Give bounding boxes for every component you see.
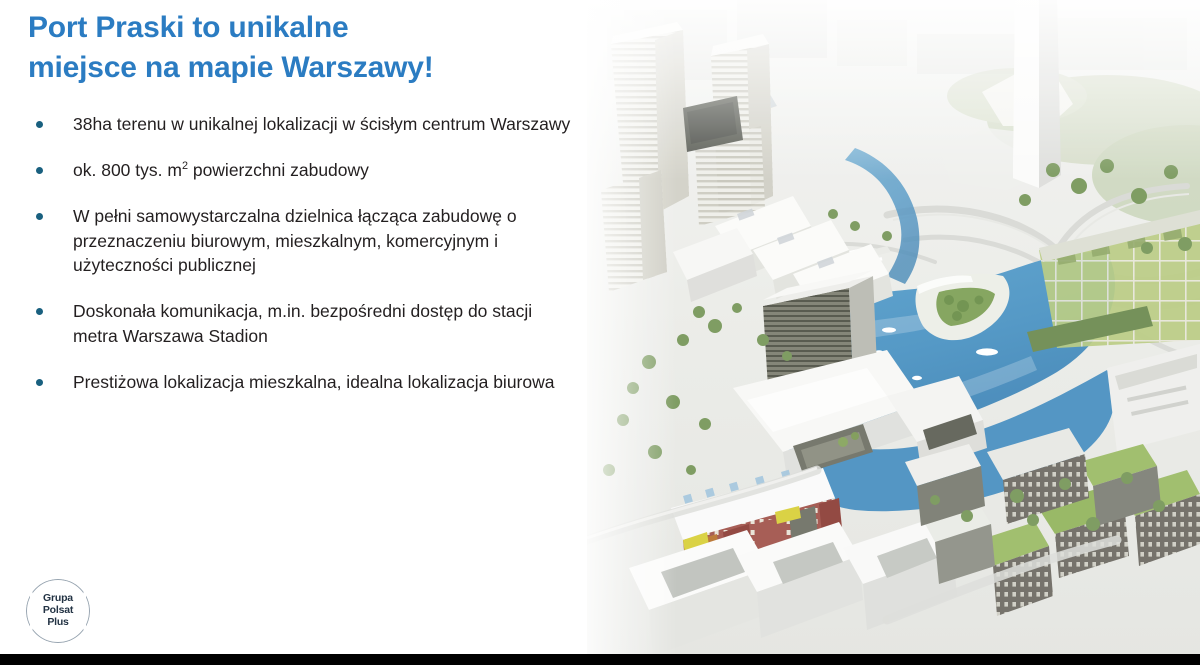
- logo-text: Grupa Polsat Plus: [26, 579, 90, 643]
- list-item: Doskonała komunikacja, m.in. bezpośredni…: [28, 299, 573, 349]
- bullet-dot-icon: [36, 213, 43, 220]
- page-title-line-2: miejsce na mapie Warszawy!: [28, 48, 568, 88]
- list-item: 38ha terenu w unikalnej lokalizacji w śc…: [28, 112, 573, 137]
- feature-bullet-list: 38ha terenu w unikalnej lokalizacji w śc…: [28, 112, 573, 395]
- presentation-slide: Port Praski to unikalne miejsce na mapie…: [0, 0, 1200, 665]
- bullet-dot-icon: [36, 308, 43, 315]
- list-item: W pełni samowystarczalna dzielnica łączą…: [28, 204, 573, 279]
- list-item: Prestiżowa lokalizacja mieszkalna, ideal…: [28, 370, 573, 395]
- bottom-black-bar: [0, 654, 1200, 665]
- aerial-render-svg: [587, 0, 1200, 665]
- aerial-render: [587, 0, 1200, 665]
- bullet-dot-icon: [36, 167, 43, 174]
- bullet-dot-icon: [36, 121, 43, 128]
- list-item: ok. 800 tys. m2 powierzchni zabudowy: [28, 158, 573, 183]
- project-visualisation-image: [587, 0, 1200, 665]
- bullet-dot-icon: [36, 379, 43, 386]
- bullet-text-floor-area: ok. 800 tys. m2 powierzchni zabudowy: [73, 160, 369, 180]
- page-title: Port Praski to unikalne miejsce na mapie…: [28, 8, 568, 88]
- bullet-text-mixed-use: W pełni samowystarczalna dzielnica łączą…: [73, 206, 517, 276]
- floor-area-prefix: ok. 800 tys. m: [73, 160, 182, 180]
- bullet-text-area: 38ha terenu w unikalnej lokalizacji w śc…: [73, 114, 570, 134]
- bullet-text-transport: Doskonała komunikacja, m.in. bezpośredni…: [73, 301, 532, 346]
- grupa-polsat-plus-logo: Grupa Polsat Plus: [26, 579, 90, 643]
- floor-area-suffix: powierzchni zabudowy: [188, 160, 369, 180]
- bullet-text-prestige: Prestiżowa lokalizacja mieszkalna, ideal…: [73, 372, 554, 392]
- logo-line-3: Plus: [47, 617, 68, 629]
- content-panel: Port Praski to unikalne miejsce na mapie…: [0, 0, 587, 665]
- page-title-line-1: Port Praski to unikalne: [28, 8, 568, 48]
